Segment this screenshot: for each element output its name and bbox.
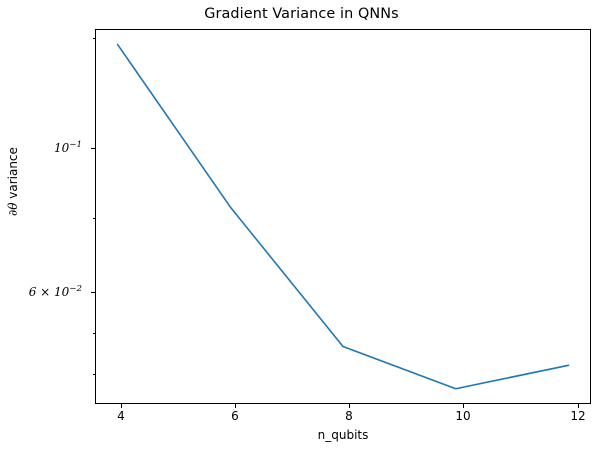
x-tick-label-3: 10	[443, 409, 483, 423]
plot-area	[95, 29, 591, 404]
y-axis-label-symbol: ∂θ	[6, 203, 20, 216]
x-tick-mark-2	[349, 404, 350, 408]
x-tick-label-2: 8	[329, 409, 369, 423]
matplotlib-figure: Gradient Variance in QNNs 10−1 6 × 10−2 …	[0, 0, 603, 455]
x-tick-mark-0	[121, 404, 122, 408]
x-tick-mark-1	[235, 404, 236, 408]
x-tick-label-4: 12	[558, 409, 598, 423]
y-tick-label-0: 10−1	[30, 141, 82, 155]
y-tick-0-mantissa: 10	[54, 141, 69, 155]
x-axis-label: n_qubits	[95, 428, 591, 442]
y-axis-label: ∂θ variance	[6, 147, 20, 216]
y-axis-label-word: variance	[6, 147, 20, 202]
x-tick-mark-3	[463, 404, 464, 408]
x-tick-label-1: 6	[215, 409, 255, 423]
y-tick-label-1: 6 × 10−2	[16, 285, 82, 299]
data-series-line	[118, 44, 569, 388]
page-title: Gradient Variance in QNNs	[0, 6, 603, 22]
y-tick-0-exponent: −1	[69, 140, 82, 150]
y-tick-1-coefficient: 6 × 10	[29, 285, 70, 299]
x-tick-mark-4	[578, 404, 579, 408]
x-tick-label-0: 4	[101, 409, 141, 423]
y-tick-1-exponent: −2	[69, 284, 82, 294]
